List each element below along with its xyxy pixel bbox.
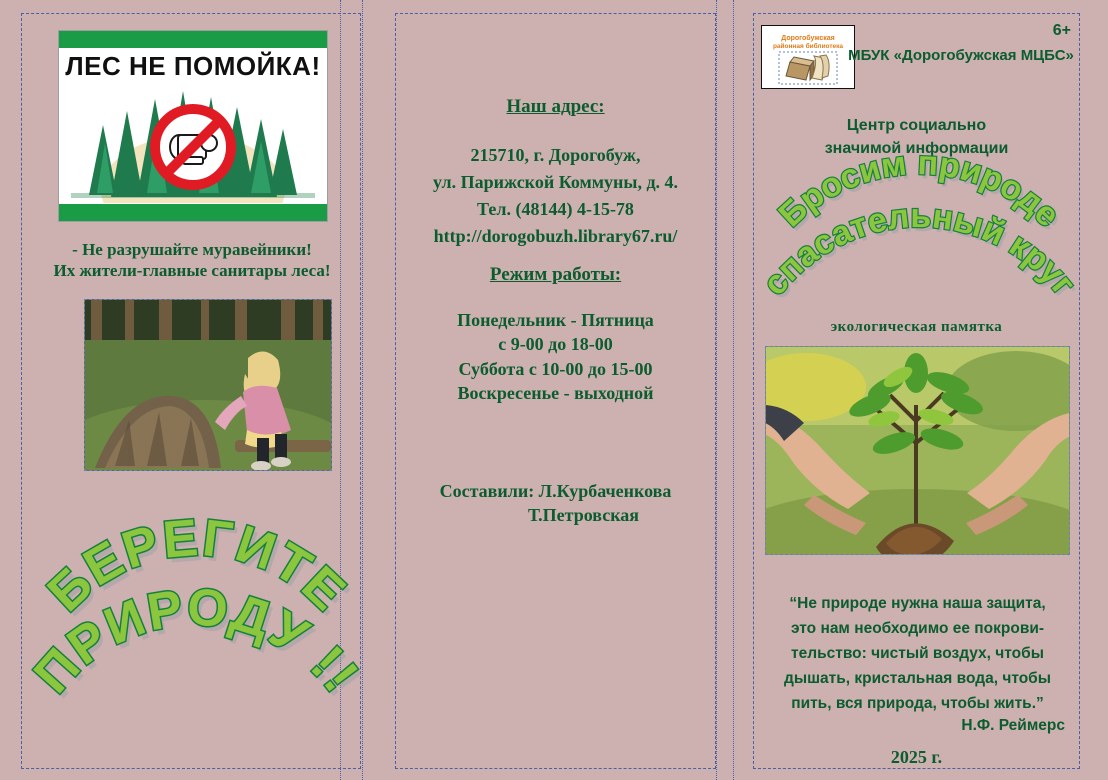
library-website-link[interactable]: http://dorogobuzh.library67.ru/ xyxy=(396,223,715,250)
publication-year: 2025 г. xyxy=(754,747,1079,768)
hours-line-1: Понедельник - Пятница xyxy=(396,308,715,332)
nature-quote: “Не природе нужна наша защита, это нам н… xyxy=(760,591,1075,717)
compilers-line-2: Т.Петровская xyxy=(396,503,715,527)
hours-heading: Режим работы: xyxy=(396,264,715,286)
forest-illustration xyxy=(59,85,327,203)
compilers: Составили: Л.Курбаченкова Т.Петровская xyxy=(396,479,715,528)
library-logo: Дорогобужская районная библиотека xyxy=(761,25,855,89)
tree-planting-photo xyxy=(765,346,1070,555)
compilers-line-1: Составили: Л.Курбаченкова xyxy=(396,479,715,503)
hours-line-2: с 9-00 до 18-00 xyxy=(396,332,715,356)
hours-line-3: Суббота с 10-00 до 15-00 xyxy=(396,357,715,381)
anthill-caption: - Не разрушайте муравейники! Их жители-г… xyxy=(36,239,348,282)
panel-left: ЛЕС НЕ ПОМОЙКА! xyxy=(21,13,361,769)
address-heading: Наш адрес: xyxy=(396,96,715,118)
quote-line-5: пить, вся природа, чтобы жить.” xyxy=(760,691,1075,716)
sign-title: ЛЕС НЕ ПОМОЙКА! xyxy=(59,51,327,82)
address-line-1: 215710, г. Дорогобуж, xyxy=(396,142,715,169)
hours-lines: Понедельник - Пятница с 9-00 до 18-00 Су… xyxy=(396,308,715,405)
address-lines: 215710, г. Дорогобуж, ул. Парижской Комм… xyxy=(396,142,715,250)
panel-right: Дорогобужская районная библиотека 6+ МБУ… xyxy=(753,13,1080,769)
organization-name: МБУК «Дорогобужская МЦБС» xyxy=(846,47,1076,64)
logo-text-line-1: Дорогобужская xyxy=(781,34,834,42)
quote-line-4: дышать, кристальная вода, чтобы xyxy=(760,666,1075,691)
forest-no-littering-sign: ЛЕС НЕ ПОМОЙКА! xyxy=(58,30,328,222)
age-rating-badge: 6+ xyxy=(1053,22,1071,40)
wordart-brochure-title: Бросим природе Бросим природе спасательн… xyxy=(759,189,1079,334)
address-line-3: Тел. (48144) 4-15-78 xyxy=(396,196,715,223)
fold-guide-c xyxy=(716,0,717,780)
quote-line-3: тельство: чистый воздух, чтобы xyxy=(760,641,1075,666)
address-line-2: ул. Парижской Коммуны, д. 4. xyxy=(396,169,715,196)
sign-top-bar xyxy=(59,31,327,48)
caption-line-2: Их жители-главные санитары леса! xyxy=(36,260,348,281)
wordart-protect-nature: БЕРЕГИТЕ БЕРЕГИТЕ ПРИРОДУ !! ПРИРОДУ !! xyxy=(32,514,362,744)
hours-line-4: Воскресенье - выходной xyxy=(396,381,715,405)
fold-guide-d xyxy=(733,0,734,780)
center-name-line-1: Центр социально xyxy=(754,114,1079,137)
panel-middle: Наш адрес: 215710, г. Дорогобуж, ул. Пар… xyxy=(395,13,716,769)
quote-author: Н.Ф. Реймерс xyxy=(961,717,1065,735)
quote-line-1: “Не природе нужна наша защита, xyxy=(760,591,1075,616)
anthill-photo xyxy=(84,299,332,471)
logo-text-line-2: районная библиотека xyxy=(773,42,843,50)
brochure-page: ЛЕС НЕ ПОМОЙКА! xyxy=(0,0,1108,780)
caption-line-1: - Не разрушайте муравейники! xyxy=(36,239,348,260)
sign-bottom-bar xyxy=(59,204,327,221)
quote-line-2: это нам необходимо ее покрови- xyxy=(760,616,1075,641)
brochure-subtitle: экологическая памятка xyxy=(754,319,1079,336)
